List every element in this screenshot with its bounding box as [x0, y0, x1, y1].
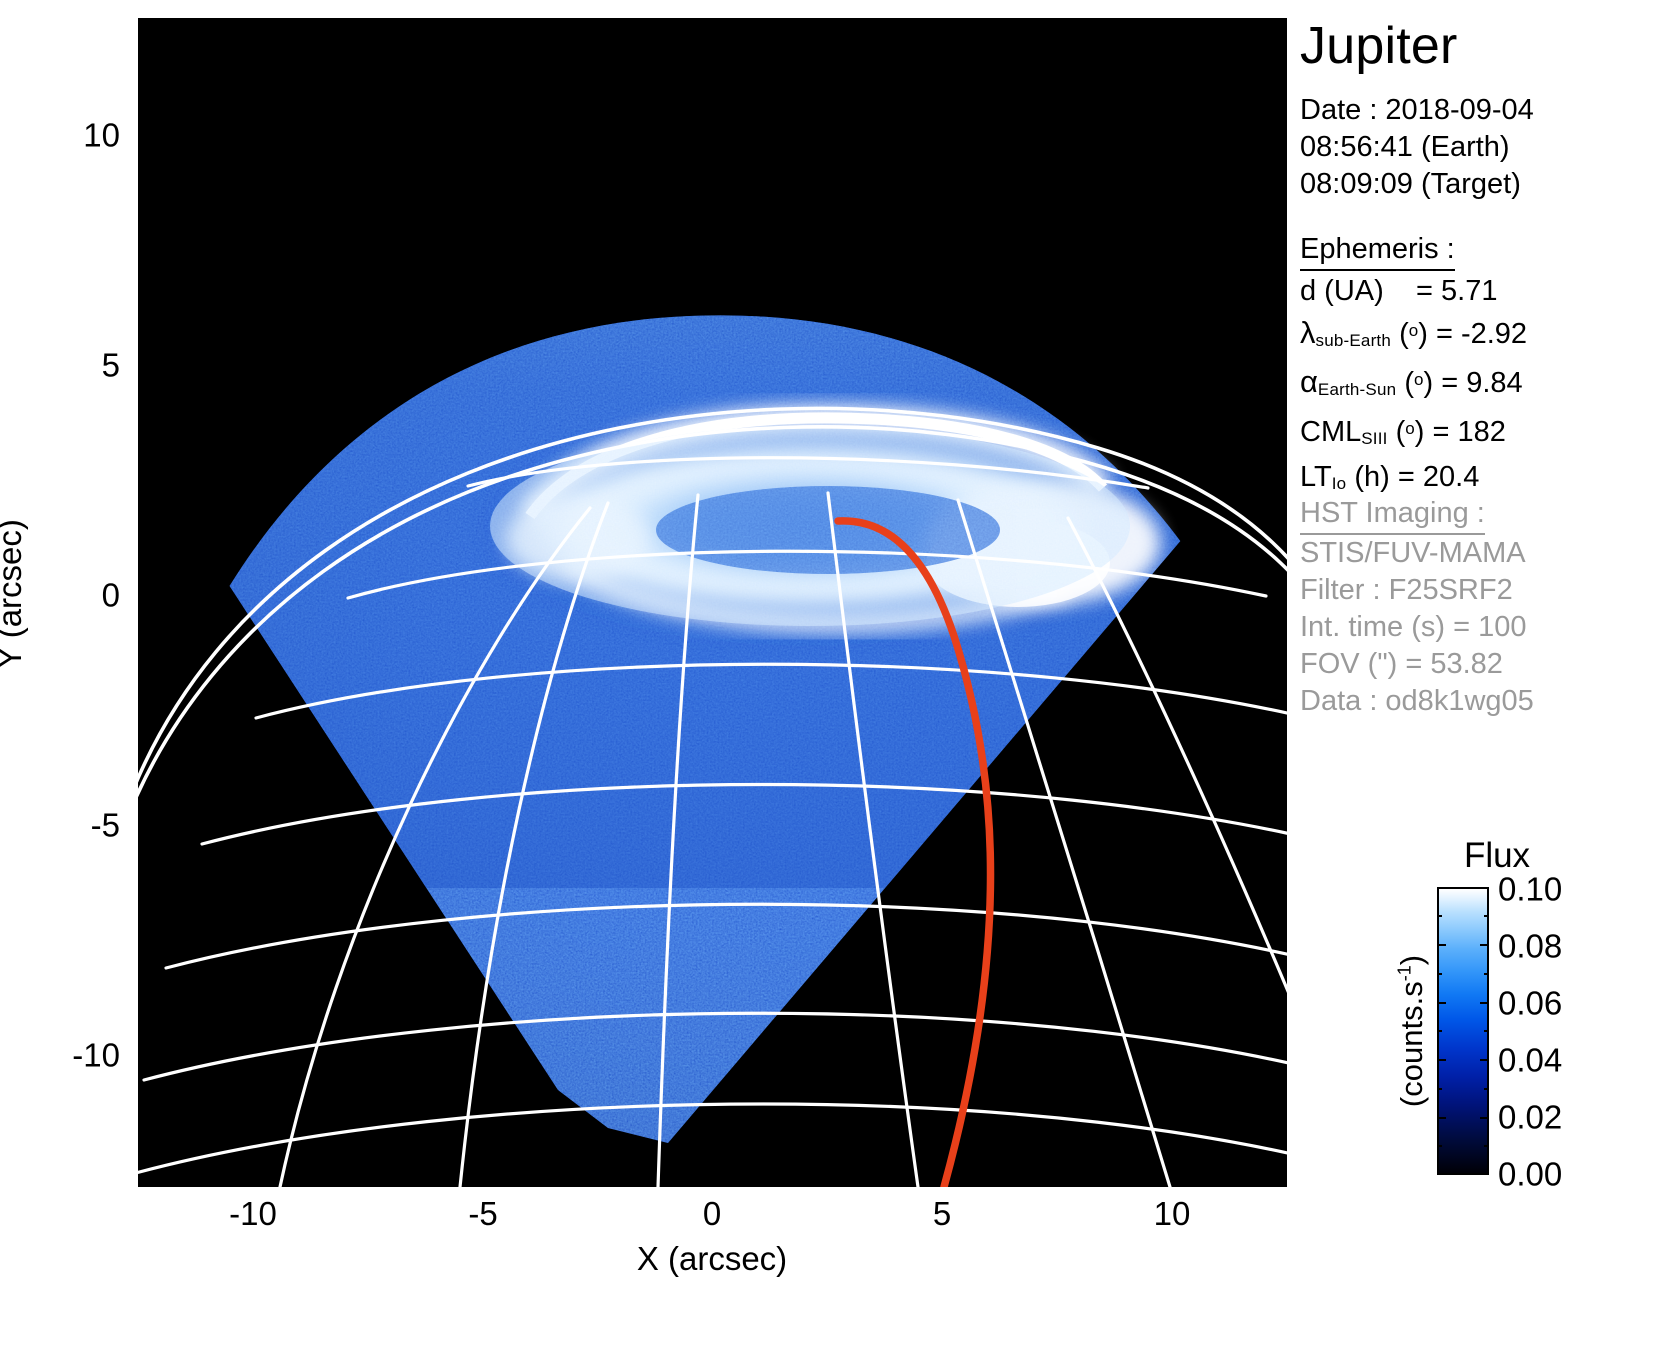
y-axis: 10 5 0 -5 -10 — [0, 0, 138, 1367]
hst-integration-time: Int. time (s) = 100 — [1300, 609, 1534, 646]
hst-imaging-block: HST Imaging : STIS/FUV-MAMA Filter : F25… — [1300, 496, 1534, 720]
date-line: Date : 2018-09-04 — [1300, 92, 1534, 129]
colorbar-minor-tick — [1437, 973, 1442, 975]
degree-unit: o — [1405, 419, 1414, 438]
colorbar-title: Flux — [1437, 838, 1557, 873]
y-tick-label: 10 — [83, 119, 120, 152]
hst-filter: Filter : F25SRF2 — [1300, 572, 1534, 609]
colorbar-tick-label: 0.10 — [1498, 873, 1562, 906]
lambda-value: = -2.92 — [1436, 318, 1527, 350]
aurora-plot-svg — [138, 18, 1287, 1187]
flux-colorbar[interactable] — [1437, 887, 1489, 1175]
unit-exponent: -1 — [1395, 965, 1415, 981]
x-axis-title: X (arcsec) — [637, 1240, 787, 1278]
colorbar-tick — [1437, 1002, 1446, 1004]
colorbar-tick — [1437, 1059, 1446, 1061]
hour-unit: h — [1364, 461, 1380, 493]
alpha-unit: (o) — [1404, 367, 1433, 399]
colorbar-minor-tick — [1484, 1088, 1489, 1090]
ephemeris-row-phase-angle: αEarth-Sun (o) = 9.84 — [1300, 361, 1527, 408]
y-tick-label: -10 — [72, 1039, 120, 1072]
colorbar-tick — [1480, 1002, 1489, 1004]
distance-value: = 5.71 — [1416, 275, 1497, 307]
hst-data-id: Data : od8k1wg05 — [1300, 683, 1534, 720]
aurora-image-panel[interactable] — [138, 18, 1287, 1187]
alpha-value: = 9.84 — [1441, 367, 1522, 399]
degree-unit: o — [1409, 321, 1418, 340]
unit-suffix: ) — [1394, 955, 1429, 965]
colorbar-tick — [1480, 944, 1489, 946]
hst-instrument: STIS/FUV-MAMA — [1300, 535, 1534, 572]
ephemeris-heading: Ephemeris : — [1300, 232, 1455, 271]
colorbar-tick — [1437, 887, 1446, 889]
colorbar-tick-label: 0.04 — [1498, 1044, 1562, 1077]
lambda-subscript: sub-Earth — [1316, 331, 1392, 350]
y-tick-label: -5 — [91, 809, 120, 842]
unit-prefix: (counts.s — [1394, 981, 1429, 1107]
colorbar-tick-label: 0.02 — [1498, 1101, 1562, 1134]
x-tick-label: 5 — [933, 1197, 951, 1230]
colorbar-minor-tick — [1437, 915, 1442, 917]
y-tick-label: 5 — [102, 349, 120, 382]
x-tick-label: -5 — [468, 1197, 497, 1230]
target-title: Jupiter — [1300, 18, 1457, 74]
ephemeris-row-sub-earth-latitude: λsub-Earth (o) = -2.92 — [1300, 312, 1527, 359]
colorbar-tick — [1480, 1117, 1489, 1119]
cml-value: = 182 — [1432, 416, 1505, 448]
lt-value: = 20.4 — [1398, 461, 1479, 493]
colorbar-minor-tick — [1484, 1030, 1489, 1032]
alpha-symbol: α — [1300, 364, 1318, 399]
x-tick-label: 0 — [703, 1197, 721, 1230]
lambda-symbol: λ — [1300, 315, 1316, 350]
cml-symbol: CML — [1300, 416, 1361, 448]
colorbar-tick-label: 0.08 — [1498, 930, 1562, 963]
colorbar-tick — [1480, 1173, 1489, 1175]
colorbar-minor-tick — [1437, 1030, 1442, 1032]
colorbar-tick-label: 0.00 — [1498, 1158, 1562, 1191]
ephemeris-block: Ephemeris : d (UA) = 5.71 λsub-Earth (o)… — [1300, 232, 1527, 502]
x-tick-label: -10 — [229, 1197, 277, 1230]
y-axis-title: Y (arcsec) — [0, 519, 29, 669]
colorbar-tick — [1480, 1059, 1489, 1061]
lt-symbol: LT — [1300, 461, 1332, 493]
colorbar-tick — [1480, 887, 1489, 889]
colorbar-gradient — [1437, 887, 1489, 1175]
observation-date-block: Date : 2018-09-04 08:56:41 (Earth) 08:09… — [1300, 92, 1534, 203]
colorbar-tick — [1437, 1117, 1446, 1119]
ephemeris-row-cml: CMLSIII (o) = 182 — [1300, 410, 1527, 457]
ephemeris-row-distance: d (UA) = 5.71 — [1300, 273, 1527, 310]
hst-fov: FOV (") = 53.82 — [1300, 646, 1534, 683]
colorbar-tick-label: 0.06 — [1498, 987, 1562, 1020]
colorbar-tick — [1437, 1173, 1446, 1175]
cml-subscript: SIII — [1361, 429, 1387, 448]
x-tick-label: 10 — [1154, 1197, 1191, 1230]
colorbar-minor-tick — [1437, 1088, 1442, 1090]
lt-unit: (h) — [1354, 461, 1389, 493]
degree-unit: o — [1414, 370, 1423, 389]
y-tick-label: 0 — [102, 579, 120, 612]
lambda-unit: (o) — [1399, 318, 1428, 350]
time-earth-line: 08:56:41 (Earth) — [1300, 129, 1534, 166]
time-target-line: 08:09:09 (Target) — [1300, 166, 1534, 203]
distance-label: d (UA) — [1300, 275, 1384, 307]
hst-heading: HST Imaging : — [1300, 496, 1485, 535]
colorbar-minor-tick — [1484, 1145, 1489, 1147]
colorbar-unit-label: (counts.s-1) — [1394, 955, 1430, 1107]
lt-subscript: Io — [1332, 474, 1347, 493]
cml-unit: (o) — [1396, 416, 1425, 448]
alpha-subscript: Earth-Sun — [1318, 380, 1396, 399]
colorbar-tick — [1437, 944, 1446, 946]
colorbar-minor-tick — [1437, 1145, 1442, 1147]
colorbar-minor-tick — [1484, 915, 1489, 917]
colorbar-minor-tick — [1484, 973, 1489, 975]
